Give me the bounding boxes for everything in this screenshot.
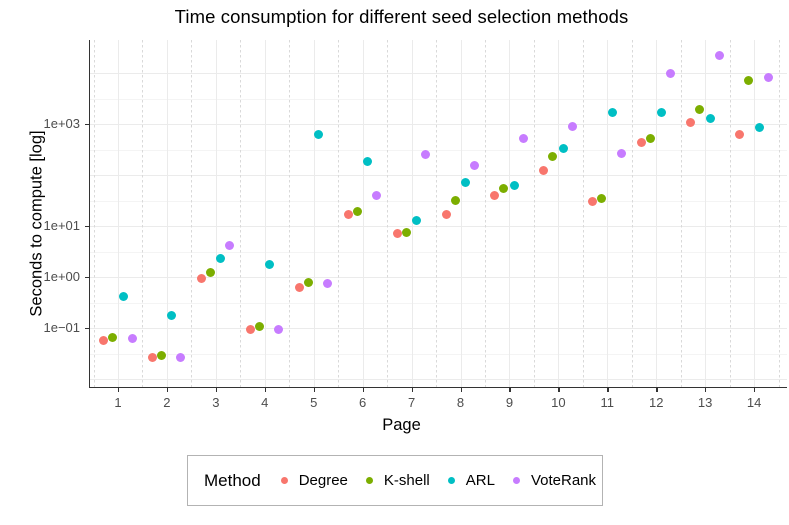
data-point bbox=[206, 268, 215, 277]
data-point bbox=[176, 353, 185, 362]
legend-dot-icon bbox=[513, 477, 520, 484]
data-point bbox=[657, 108, 666, 117]
x-axis-line bbox=[89, 387, 787, 388]
x-tick-label: 6 bbox=[343, 395, 383, 410]
grid-line-v-minor bbox=[681, 40, 682, 388]
chart-root: Time consumption for different seed sele… bbox=[0, 0, 789, 525]
data-point bbox=[363, 157, 372, 166]
grid-line-h bbox=[89, 379, 787, 380]
grid-line-h bbox=[89, 124, 787, 125]
x-tick-label: 12 bbox=[636, 395, 676, 410]
grid-line-v-minor bbox=[142, 40, 143, 388]
data-point bbox=[216, 254, 225, 263]
x-tick-mark bbox=[314, 388, 315, 392]
x-tick-mark bbox=[265, 388, 266, 392]
chart-title: Time consumption for different seed sele… bbox=[0, 6, 789, 28]
legend-label: K-shell bbox=[384, 472, 430, 489]
data-point bbox=[470, 161, 479, 170]
x-tick-mark bbox=[558, 388, 559, 392]
grid-line-v bbox=[118, 40, 119, 388]
grid-line-v bbox=[754, 40, 755, 388]
grid-line-v-minor bbox=[583, 40, 584, 388]
x-tick-mark bbox=[754, 388, 755, 392]
legend-dot-icon bbox=[448, 477, 455, 484]
legend-items: DegreeK-shellARLVoteRank bbox=[277, 472, 610, 489]
x-tick-mark bbox=[509, 388, 510, 392]
grid-line-h bbox=[89, 328, 787, 329]
y-tick-label: 1e+00 bbox=[12, 269, 80, 284]
x-axis-title: Page bbox=[0, 416, 789, 435]
x-tick-label: 9 bbox=[489, 395, 529, 410]
x-tick-label: 7 bbox=[392, 395, 432, 410]
grid-line-h-minor bbox=[89, 303, 787, 304]
legend-dot-icon bbox=[281, 477, 288, 484]
data-point bbox=[510, 181, 519, 190]
data-point bbox=[764, 73, 773, 82]
y-tick-label: 1e+03 bbox=[12, 116, 80, 131]
data-point bbox=[108, 333, 117, 342]
legend-key-icon bbox=[444, 473, 460, 489]
grid-line-v-minor bbox=[534, 40, 535, 388]
grid-line-v-minor bbox=[436, 40, 437, 388]
legend-label: Degree bbox=[299, 472, 348, 489]
data-point bbox=[442, 210, 451, 219]
grid-line-v bbox=[607, 40, 608, 388]
legend-dot-icon bbox=[366, 477, 373, 484]
legend-item-k-shell[interactable]: K-shell bbox=[362, 472, 430, 489]
legend-label: ARL bbox=[466, 472, 495, 489]
plot-panel bbox=[89, 40, 787, 388]
x-tick-mark bbox=[656, 388, 657, 392]
data-point bbox=[499, 184, 508, 193]
x-tick-label: 2 bbox=[147, 395, 187, 410]
grid-line-v-minor bbox=[191, 40, 192, 388]
data-point bbox=[304, 278, 313, 287]
x-tick-mark bbox=[705, 388, 706, 392]
data-point bbox=[157, 351, 166, 360]
data-point bbox=[588, 197, 597, 206]
x-tick-label: 3 bbox=[196, 395, 236, 410]
data-point bbox=[608, 108, 617, 117]
data-point bbox=[744, 76, 753, 85]
data-point bbox=[695, 105, 704, 114]
data-point bbox=[568, 122, 577, 131]
legend-item-arl[interactable]: ARL bbox=[444, 472, 495, 489]
data-point bbox=[225, 241, 234, 250]
legend-title: Method bbox=[204, 471, 261, 491]
grid-line-v bbox=[558, 40, 559, 388]
data-point bbox=[99, 336, 108, 345]
data-point bbox=[706, 114, 715, 123]
grid-line-v bbox=[412, 40, 413, 388]
grid-line-v-minor bbox=[779, 40, 780, 388]
grid-line-v bbox=[314, 40, 315, 388]
data-point bbox=[597, 194, 606, 203]
grid-line-h-minor bbox=[89, 354, 787, 355]
y-tick-label: 1e+01 bbox=[12, 218, 80, 233]
grid-line-v bbox=[656, 40, 657, 388]
data-point bbox=[755, 123, 764, 132]
legend-key-icon bbox=[362, 473, 378, 489]
grid-line-h-minor bbox=[89, 99, 787, 100]
grid-line-v-minor bbox=[338, 40, 339, 388]
data-point bbox=[119, 292, 128, 301]
legend-item-degree[interactable]: Degree bbox=[277, 472, 348, 489]
data-point bbox=[255, 322, 264, 331]
y-tick-label: 1e−01 bbox=[12, 320, 80, 335]
grid-line-v-minor bbox=[632, 40, 633, 388]
grid-line-h-minor bbox=[89, 252, 787, 253]
data-point bbox=[274, 325, 283, 334]
data-point bbox=[314, 130, 323, 139]
x-tick-mark bbox=[363, 388, 364, 392]
grid-line-v-minor bbox=[94, 40, 95, 388]
grid-line-v bbox=[363, 40, 364, 388]
data-point bbox=[128, 334, 137, 343]
legend: Method DegreeK-shellARLVoteRank bbox=[187, 455, 603, 506]
data-point bbox=[148, 353, 157, 362]
data-point bbox=[451, 196, 460, 205]
data-point bbox=[393, 229, 402, 238]
grid-line-v-minor bbox=[387, 40, 388, 388]
legend-item-voterank[interactable]: VoteRank bbox=[509, 472, 596, 489]
grid-line-v-minor bbox=[240, 40, 241, 388]
data-point bbox=[461, 178, 470, 187]
x-tick-label: 1 bbox=[98, 395, 138, 410]
data-point bbox=[617, 149, 626, 158]
data-point bbox=[519, 134, 528, 143]
data-point bbox=[548, 152, 557, 161]
x-tick-mark bbox=[412, 388, 413, 392]
data-point bbox=[353, 207, 362, 216]
x-tick-mark bbox=[167, 388, 168, 392]
x-tick-label: 8 bbox=[441, 395, 481, 410]
x-tick-mark bbox=[607, 388, 608, 392]
data-point bbox=[167, 311, 176, 320]
x-tick-label: 13 bbox=[685, 395, 725, 410]
grid-line-h-minor bbox=[89, 150, 787, 151]
grid-line-h bbox=[89, 277, 787, 278]
x-tick-label: 14 bbox=[734, 395, 774, 410]
grid-line-h bbox=[89, 73, 787, 74]
grid-line-h-minor bbox=[89, 201, 787, 202]
grid-line-v bbox=[216, 40, 217, 388]
data-point bbox=[295, 283, 304, 292]
grid-line-v-minor bbox=[730, 40, 731, 388]
data-point bbox=[715, 51, 724, 60]
grid-line-v bbox=[265, 40, 266, 388]
grid-line-v bbox=[705, 40, 706, 388]
data-point bbox=[197, 274, 206, 283]
legend-label: VoteRank bbox=[531, 472, 596, 489]
y-axis-line bbox=[89, 40, 90, 388]
x-tick-mark bbox=[216, 388, 217, 392]
x-tick-label: 11 bbox=[587, 395, 627, 410]
legend-key-icon bbox=[509, 473, 525, 489]
data-point bbox=[646, 134, 655, 143]
data-point bbox=[344, 210, 353, 219]
x-tick-mark bbox=[461, 388, 462, 392]
x-tick-label: 4 bbox=[245, 395, 285, 410]
data-point bbox=[372, 191, 381, 200]
data-point bbox=[246, 325, 255, 334]
data-point bbox=[686, 118, 695, 127]
data-point bbox=[412, 216, 421, 225]
grid-line-h bbox=[89, 226, 787, 227]
data-point bbox=[666, 69, 675, 78]
data-point bbox=[402, 228, 411, 237]
data-point bbox=[559, 144, 568, 153]
grid-line-h bbox=[89, 175, 787, 176]
legend-key-icon bbox=[277, 473, 293, 489]
grid-line-v bbox=[461, 40, 462, 388]
x-tick-label: 5 bbox=[294, 395, 334, 410]
data-point bbox=[265, 260, 274, 269]
data-point bbox=[637, 138, 646, 147]
x-tick-label: 10 bbox=[538, 395, 578, 410]
data-point bbox=[735, 130, 744, 139]
data-point bbox=[490, 191, 499, 200]
grid-line-v-minor bbox=[289, 40, 290, 388]
x-tick-mark bbox=[118, 388, 119, 392]
data-point bbox=[323, 279, 332, 288]
grid-line-v bbox=[509, 40, 510, 388]
grid-line-v-minor bbox=[485, 40, 486, 388]
data-point bbox=[421, 150, 430, 159]
grid-line-v bbox=[167, 40, 168, 388]
